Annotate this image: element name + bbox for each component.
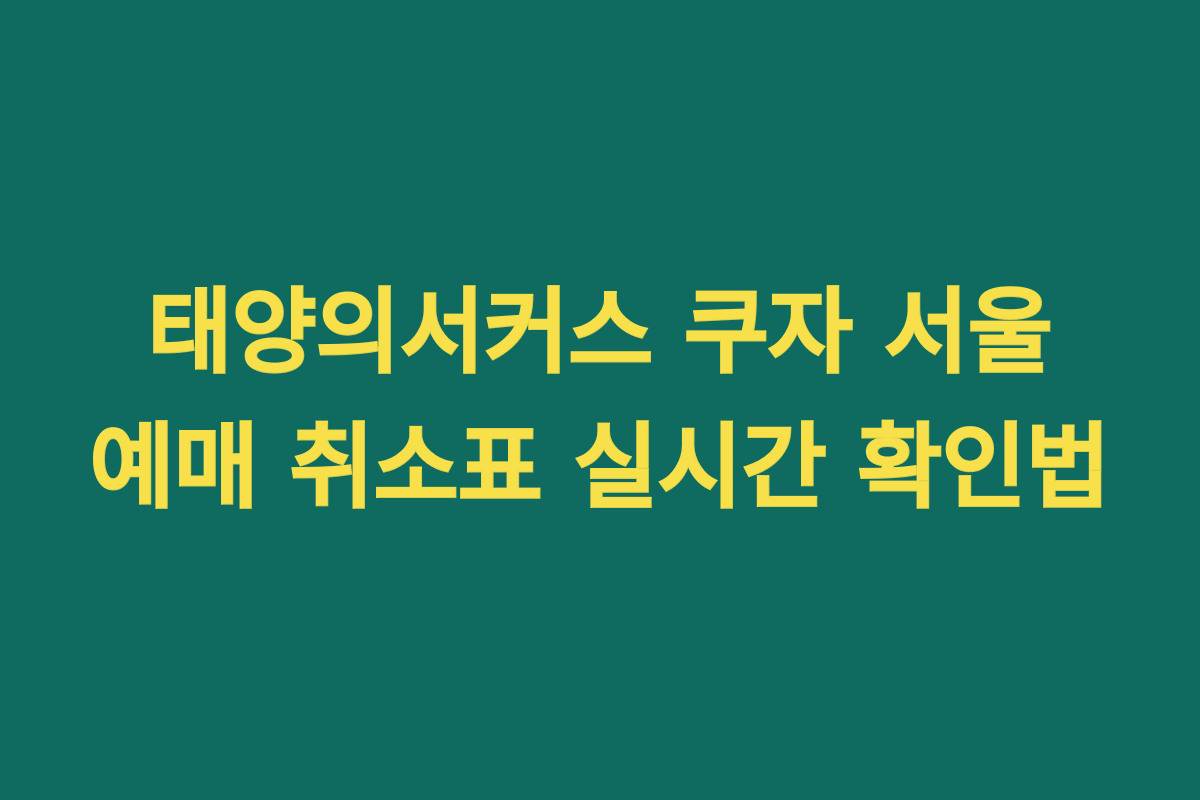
- banner-canvas: 태양의서커스 쿠자 서울 예매 취소표 실시간 확인법: [0, 0, 1200, 800]
- page-title: 태양의서커스 쿠자 서울 예매 취소표 실시간 확인법: [85, 265, 1115, 535]
- headline-block: 태양의서커스 쿠자 서울 예매 취소표 실시간 확인법: [85, 265, 1115, 535]
